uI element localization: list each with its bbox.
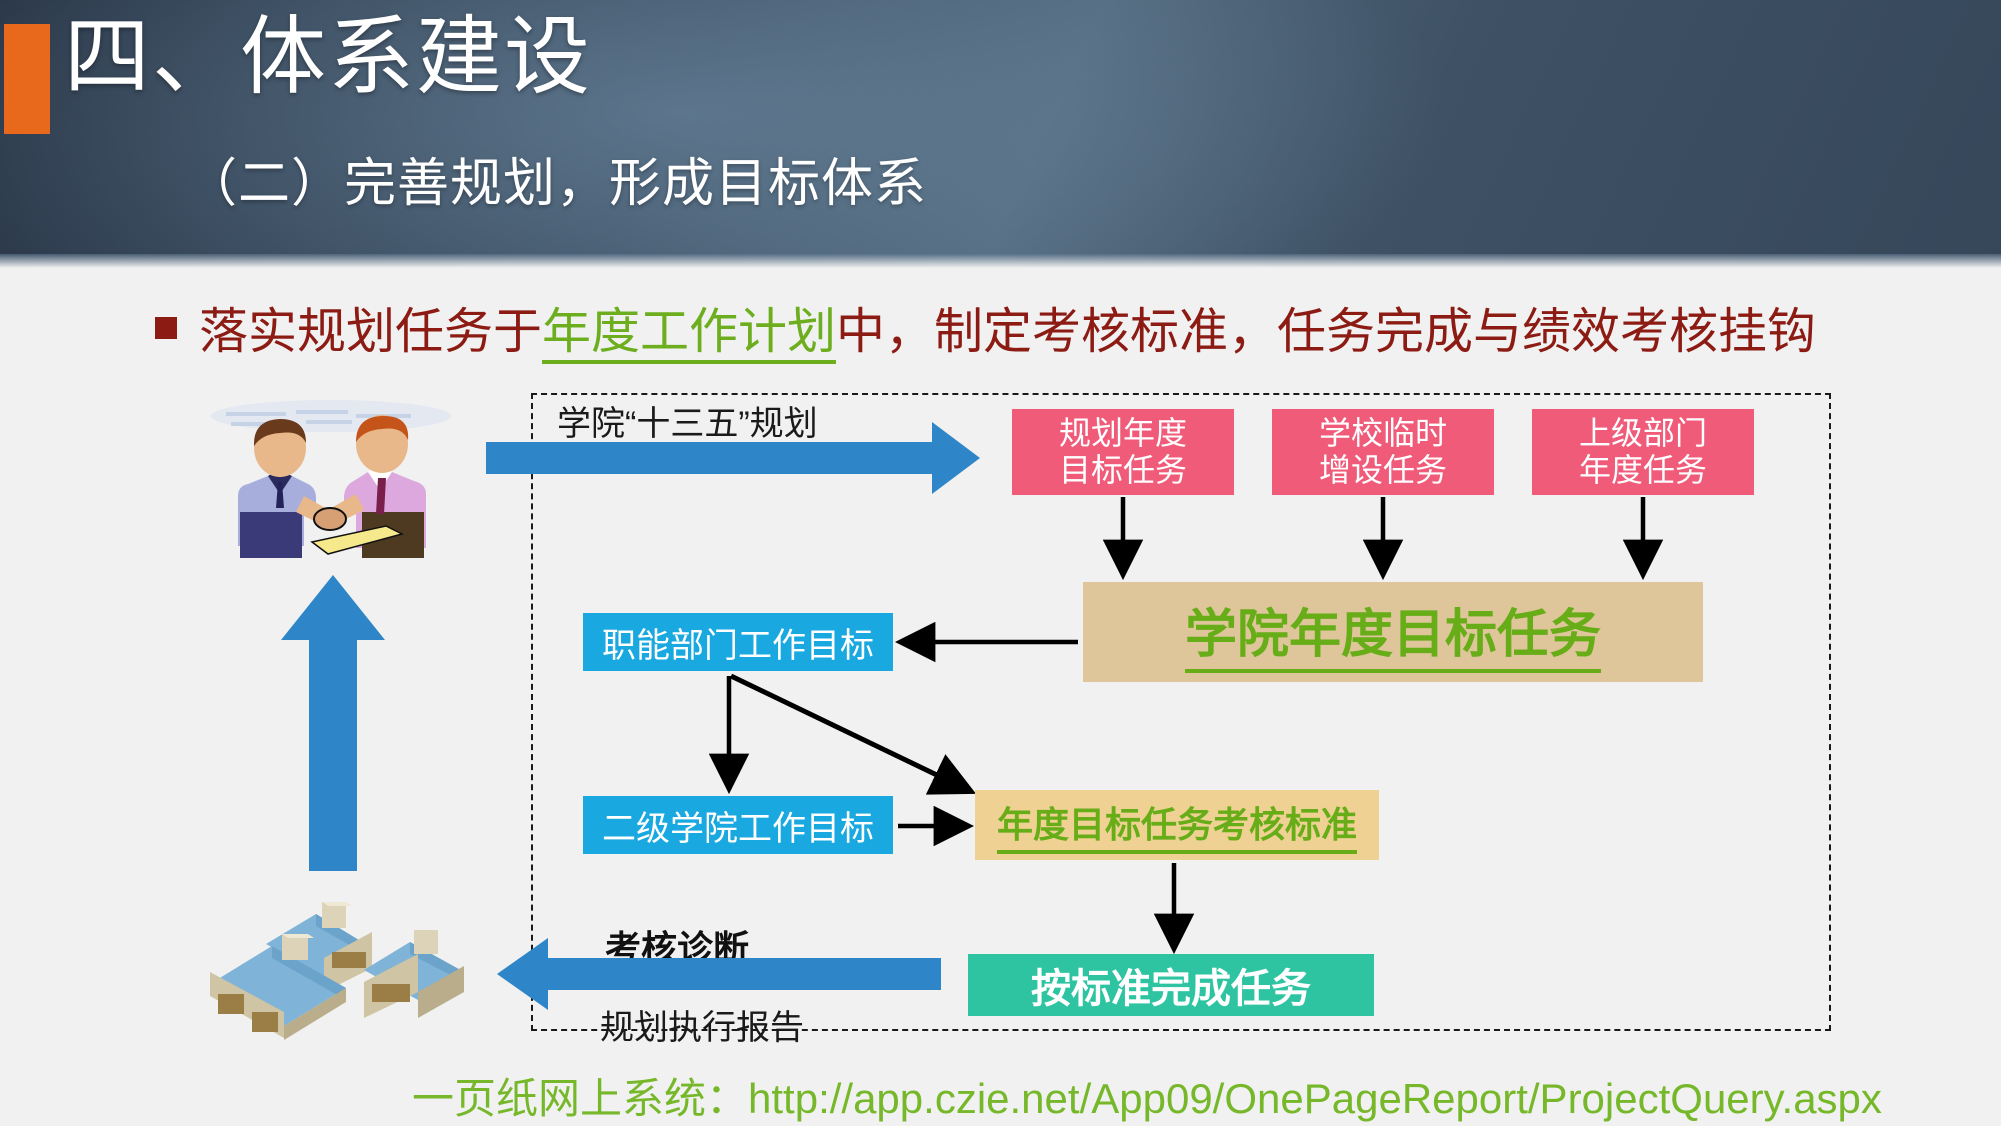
box-task-completed[interactable]: 按标准完成任务 [968,954,1374,1016]
bullet-text: 落实规划任务于年度工作计划中，制定考核标准，任务完成与绩效考核挂钩 [199,292,1816,363]
slide-canvas: 四、体系建设 （二）完善规划，形成目标体系 落实规划任务于年度工作计划中，制定考… [0,0,2001,1126]
box-assessment-standard[interactable]: 年度目标任务考核标准 [975,790,1379,860]
box-functional-label: 职能部门工作目标 [602,618,874,667]
box-pink-2-line2: 增设任务 [1319,452,1447,488]
report-label: 规划执行报告 [600,1000,804,1049]
box-pink-1-line1: 规划年度 [1059,415,1187,451]
header-fade-divider [0,254,2001,268]
orange-accent-bar [4,24,50,134]
box-pink-1-line2: 目标任务 [1059,452,1187,488]
footer-link-url: http://app.czie.net/App09/OnePageReport/… [748,1075,1882,1122]
box-pink-3-line2: 年度任务 [1579,452,1707,488]
box-annual-label: 学院年度目标任务 [1185,592,1601,673]
box-pink-3-line1: 上级部门 [1579,415,1707,451]
box-superior-dept-task[interactable]: 上级部门 年度任务 [1532,409,1754,495]
box-sub-college-label: 二级学院工作目标 [602,801,874,850]
bullet-square-icon [155,317,177,339]
bullet-row: 落实规划任务于年度工作计划中，制定考核标准，任务完成与绩效考核挂钩 [155,292,1816,363]
bullet-text-suffix: 中，制定考核标准，任务完成与绩效考核挂钩 [836,305,1816,359]
blue-arrow-up [281,575,385,871]
box-pink-2-line1: 学校临时 [1319,415,1447,451]
box-school-temporary-task[interactable]: 学校临时 增设任务 [1272,409,1494,495]
box-annual-target-task[interactable]: 学院年度目标任务 [1083,582,1703,682]
box-sub-college-goal[interactable]: 二级学院工作目标 [583,796,893,854]
buildings-clipart [196,896,486,1046]
diagnose-label: 考核诊断 [605,920,749,972]
plan-label: 学院“十三五”规划 [557,396,818,445]
footer-system-link[interactable]: 一页纸网上系统：http://app.czie.net/App09/OnePag… [412,1065,1882,1126]
footer-link-label: 一页纸网上系统： [412,1075,748,1122]
box-standard-label: 年度目标任务考核标准 [997,796,1357,854]
box-functional-dept-goal[interactable]: 职能部门工作目标 [583,613,893,671]
page-subtitle: （二）完善规划，形成目标体系 [185,158,927,210]
handshake-clipart [196,386,466,566]
box-planned-annual-target[interactable]: 规划年度 目标任务 [1012,409,1234,495]
bullet-text-prefix: 落实规划任务于 [199,305,542,359]
bullet-text-highlight: 年度工作计划 [542,305,836,364]
box-completed-label: 按标准完成任务 [1031,956,1311,1014]
page-title: 四、体系建设 [64,14,592,100]
